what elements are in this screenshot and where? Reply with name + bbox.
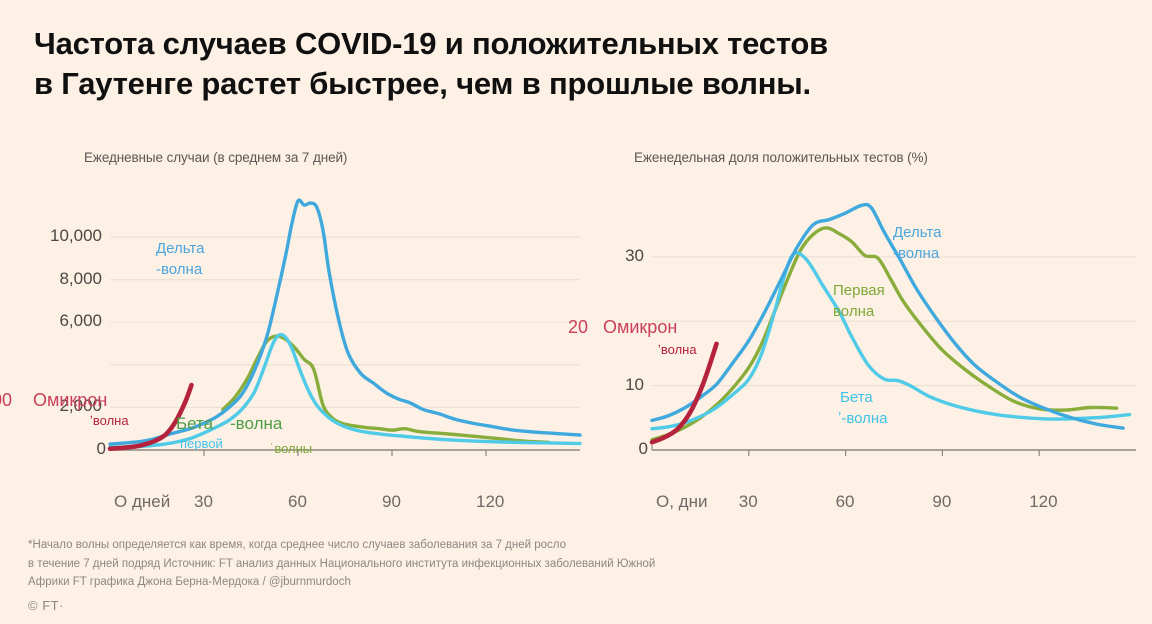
- annotation-omicron-value-left: 4000: [0, 390, 12, 411]
- x-tick-label: 90: [932, 492, 951, 512]
- annotation-first-left: первой: [180, 436, 223, 451]
- chart-subtitle-right: Еженедельная доля положительных тестов (…: [634, 150, 928, 165]
- annotation-volny-left: ˙волны: [270, 441, 312, 456]
- x-tick-label: 30: [194, 492, 213, 512]
- x-axis-origin-label: О дней: [114, 492, 170, 512]
- annotation-first-wave-right: Первая: [833, 282, 885, 300]
- y-tick-label: 6,000: [59, 311, 102, 331]
- ft-logo: © FT·: [28, 598, 64, 613]
- y-tick-label: 8,000: [59, 269, 102, 289]
- annotation-omicron-wave-left: Омикрон: [33, 390, 107, 411]
- chart-subtitle-left: Ежедневные случаи (в среднем за 7 дней): [84, 150, 347, 165]
- chart-panel-daily-cases: Ежедневные случаи (в среднем за 7 дней) …: [28, 150, 584, 530]
- annotation-omicron-value-right: 20: [568, 317, 588, 338]
- x-tick-label: 30: [739, 492, 758, 512]
- annotation-beta-wave-right-2: ʼ-волна: [838, 410, 888, 428]
- title-line-1: Частота случаев COVID-19 и положительных…: [34, 24, 1114, 64]
- x-tick-label: 120: [1029, 492, 1057, 512]
- y-tick-label: 10,000: [50, 226, 102, 246]
- page-title: Частота случаев COVID-19 и положительных…: [34, 24, 1114, 105]
- y-tick-label: 0: [97, 439, 106, 459]
- x-tick-label: 90: [382, 492, 401, 512]
- annotation-delta-wave-right: Дельта: [893, 224, 941, 242]
- title-line-2: в Гаутенге растет быстрее, чем в прошлые…: [34, 64, 1114, 104]
- y-tick-label: 10: [625, 375, 644, 395]
- annotation-delta-wave-right-2: -волна: [893, 245, 939, 263]
- annotation-beta-wave-left: Бета: [176, 414, 213, 434]
- plot-area-test-positivity: 01030О, дни306090120Дельта-волнаПерваяво…: [600, 176, 1140, 486]
- y-tick-label: 0: [639, 439, 648, 459]
- y-tick-label: 30: [625, 246, 644, 266]
- annotation-beta-wave-left-2: -волна: [230, 414, 282, 434]
- annotation-omicron-wave-left-2: ʼволна: [90, 413, 129, 428]
- daily-cases-svg: [28, 176, 584, 486]
- x-tick-label: 60: [288, 492, 307, 512]
- annotation-delta-wave-left-2: -волна: [156, 261, 202, 279]
- annotation-delta-wave-left: Дельта: [156, 240, 204, 258]
- annotation-omicron-wave-right-2: ʼволна: [658, 342, 697, 357]
- plot-area-daily-cases: 02,0006,0008,00010,000О дней306090120Дел…: [28, 176, 584, 486]
- footnote-line-1: *Начало волны определяется как время, ко…: [28, 536, 788, 555]
- x-tick-label: 120: [476, 492, 504, 512]
- footnote-line-2: в течение 7 дней подряд Источник: FT ана…: [28, 555, 788, 574]
- x-tick-label: 60: [836, 492, 855, 512]
- chart-panel-test-positivity: Еженедельная доля положительных тестов (…: [600, 150, 1140, 530]
- footnote: *Начало волны определяется как время, ко…: [28, 536, 788, 592]
- footnote-line-3: Африки FT графика Джона Берна-Мердока / …: [28, 573, 788, 592]
- test-positivity-svg: [600, 176, 1140, 486]
- annotation-omicron-wave-right: Омикрон: [603, 317, 677, 338]
- annotation-beta-wave-right: Бета: [840, 389, 873, 407]
- x-axis-origin-label: О, дни: [656, 492, 707, 512]
- annotation-first-wave-right-2: волна: [833, 303, 874, 321]
